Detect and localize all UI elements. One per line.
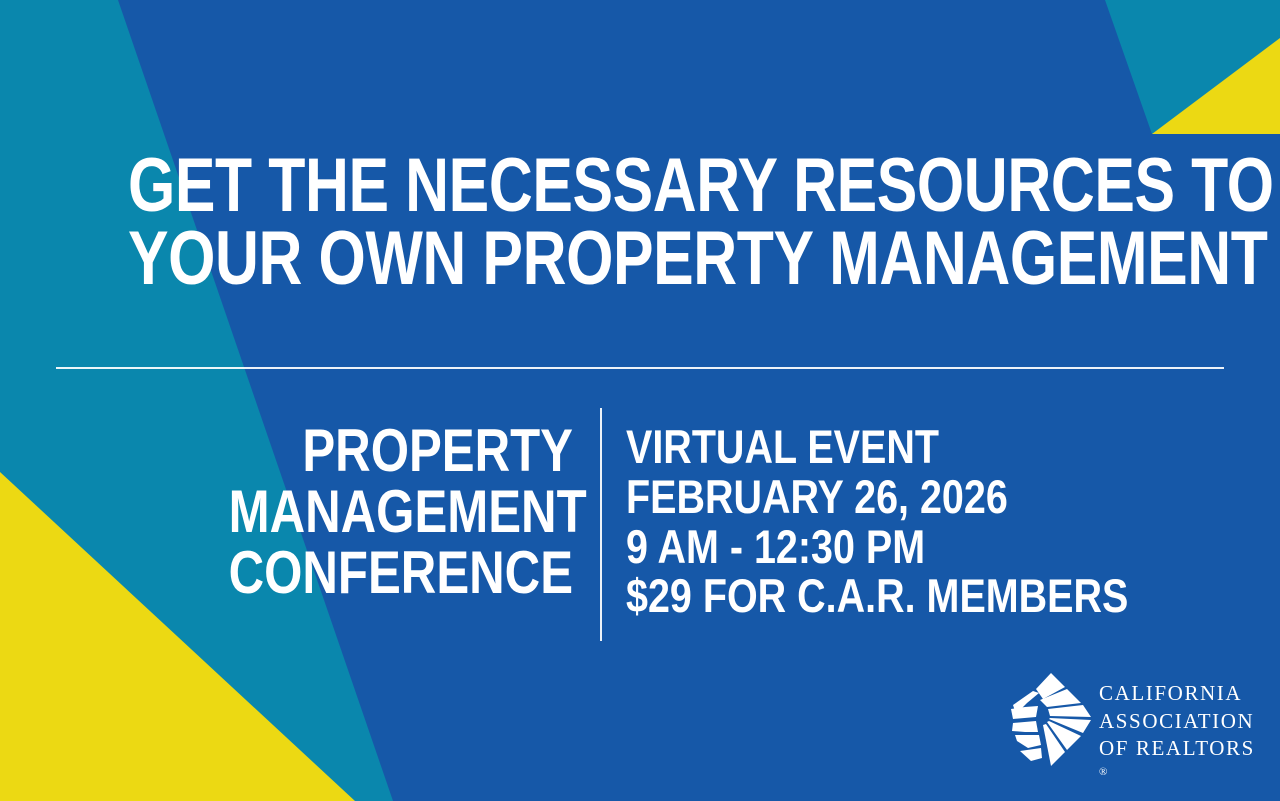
horizontal-divider (56, 367, 1224, 369)
event-format: VIRTUAL EVENT (626, 422, 1147, 472)
car-emblem-icon (1003, 669, 1095, 769)
conference-title-line-2: MANAGEMENT (229, 481, 573, 542)
vertical-divider (600, 408, 602, 641)
headline-line-1: GET THE NECESSARY RESOURCES TO SUPPORT (128, 150, 1152, 223)
event-time: 9 AM - 12:30 PM (626, 522, 1147, 572)
banner-content: GET THE NECESSARY RESOURCES TO SUPPORT Y… (0, 0, 1280, 801)
logo-text-line-3: OF REALTORS® (1099, 735, 1255, 790)
event-date: FEBRUARY 26, 2026 (626, 472, 1147, 522)
event-info-block: VIRTUAL EVENT FEBRUARY 26, 2026 9 AM - 1… (626, 422, 1147, 621)
car-logo-text: CALIFORNIA ASSOCIATION OF REALTORS® (1099, 680, 1255, 790)
event-promo-banner: GET THE NECESSARY RESOURCES TO SUPPORT Y… (0, 0, 1280, 801)
conference-title: PROPERTY MANAGEMENT CONFERENCE (229, 420, 573, 604)
page-title: GET THE NECESSARY RESOURCES TO SUPPORT Y… (128, 150, 1152, 296)
logo-text-line-1: CALIFORNIA (1099, 680, 1255, 708)
car-logo: CALIFORNIA ASSOCIATION OF REALTORS® (1003, 669, 1248, 769)
registered-trademark-symbol: ® (1099, 766, 1107, 778)
headline-line-2: YOUR OWN PROPERTY MANAGEMENT BUSINESS (128, 223, 1152, 296)
conference-title-line-1: PROPERTY (229, 420, 573, 481)
event-details: PROPERTY MANAGEMENT CONFERENCE VIRTUAL E… (0, 408, 1280, 648)
logo-text-line-2: ASSOCIATION (1099, 708, 1255, 736)
conference-title-line-3: CONFERENCE (229, 542, 573, 603)
logo-text-line-3-main: OF REALTORS (1099, 735, 1255, 763)
event-price: $29 FOR C.A.R. MEMBERS (626, 571, 1147, 621)
